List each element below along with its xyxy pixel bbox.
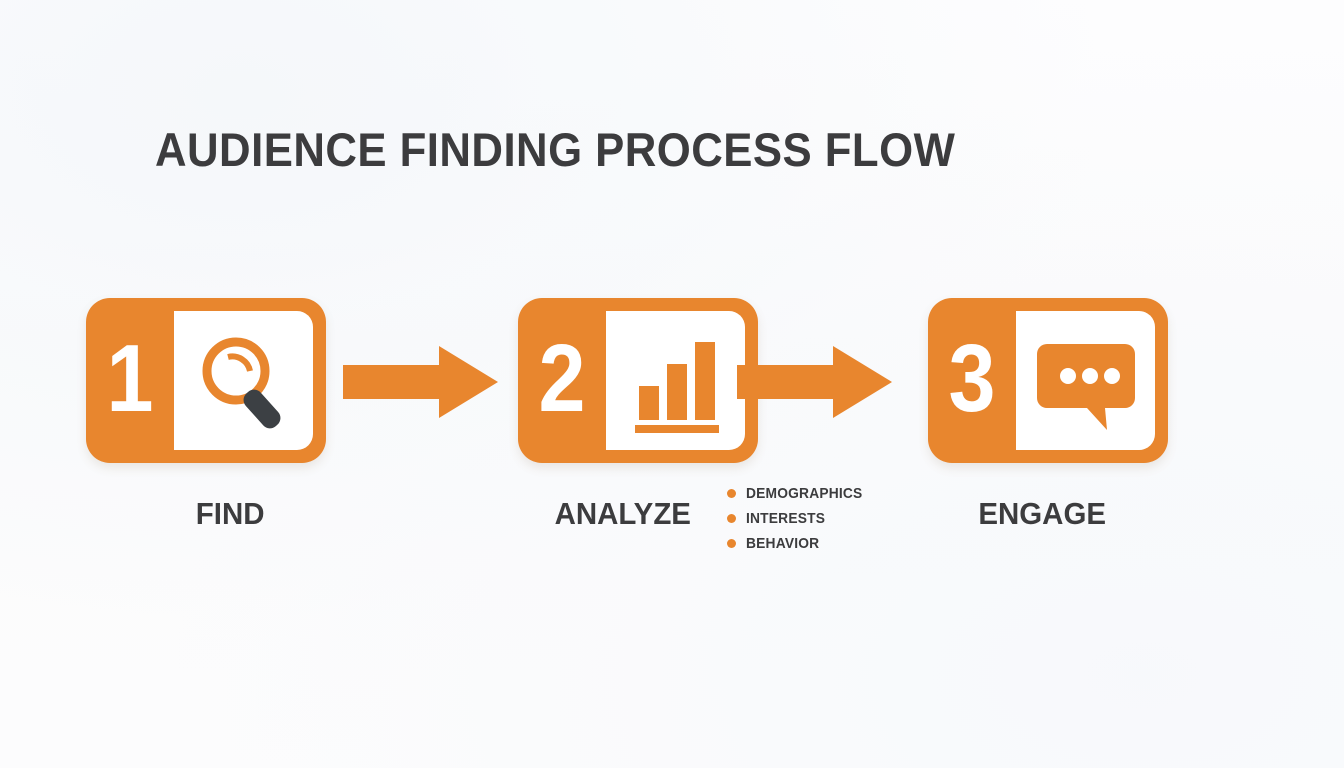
step-number-3: 3	[933, 298, 1010, 463]
step-icon-panel-2	[606, 311, 745, 450]
arrow-right-icon-1	[343, 346, 498, 418]
step-label-find: FIND	[196, 496, 265, 532]
legend-label: BEHAVIOR	[746, 535, 819, 552]
page-title: AUDIENCE FINDING PROCESS FLOW	[155, 122, 955, 177]
step-card-find[interactable]: 1	[86, 298, 326, 463]
step-label-engage: ENGAGE	[978, 496, 1106, 532]
process-flow-row: 1 2	[0, 298, 1344, 468]
step-number-1: 1	[91, 298, 168, 463]
legend-item-demographics: DEMOGRAPHICS	[727, 481, 873, 506]
step-card-analyze[interactable]: 2	[518, 298, 758, 463]
step-number-2: 2	[523, 298, 600, 463]
speech-bubble-icon	[1016, 311, 1155, 450]
magnifier-icon	[174, 311, 313, 450]
legend-label: INTERESTS	[746, 510, 825, 527]
step-card-engage[interactable]: 3	[928, 298, 1168, 463]
legend-bullet-icon	[727, 514, 736, 523]
bar-chart-icon	[606, 311, 745, 450]
step-icon-panel-3	[1016, 311, 1155, 450]
legend-label: DEMOGRAPHICS	[746, 485, 862, 502]
step-label-analyze: ANALYZE	[555, 496, 691, 532]
legend-item-interests: INTERESTS	[727, 506, 873, 531]
legend-bullet-icon	[727, 539, 736, 548]
step-icon-panel-1	[174, 311, 313, 450]
arrow-right-icon-2	[737, 346, 892, 418]
legend-item-behavior: BEHAVIOR	[727, 531, 873, 556]
legend: DEMOGRAPHICS INTERESTS BEHAVIOR	[727, 481, 873, 556]
legend-bullet-icon	[727, 489, 736, 498]
